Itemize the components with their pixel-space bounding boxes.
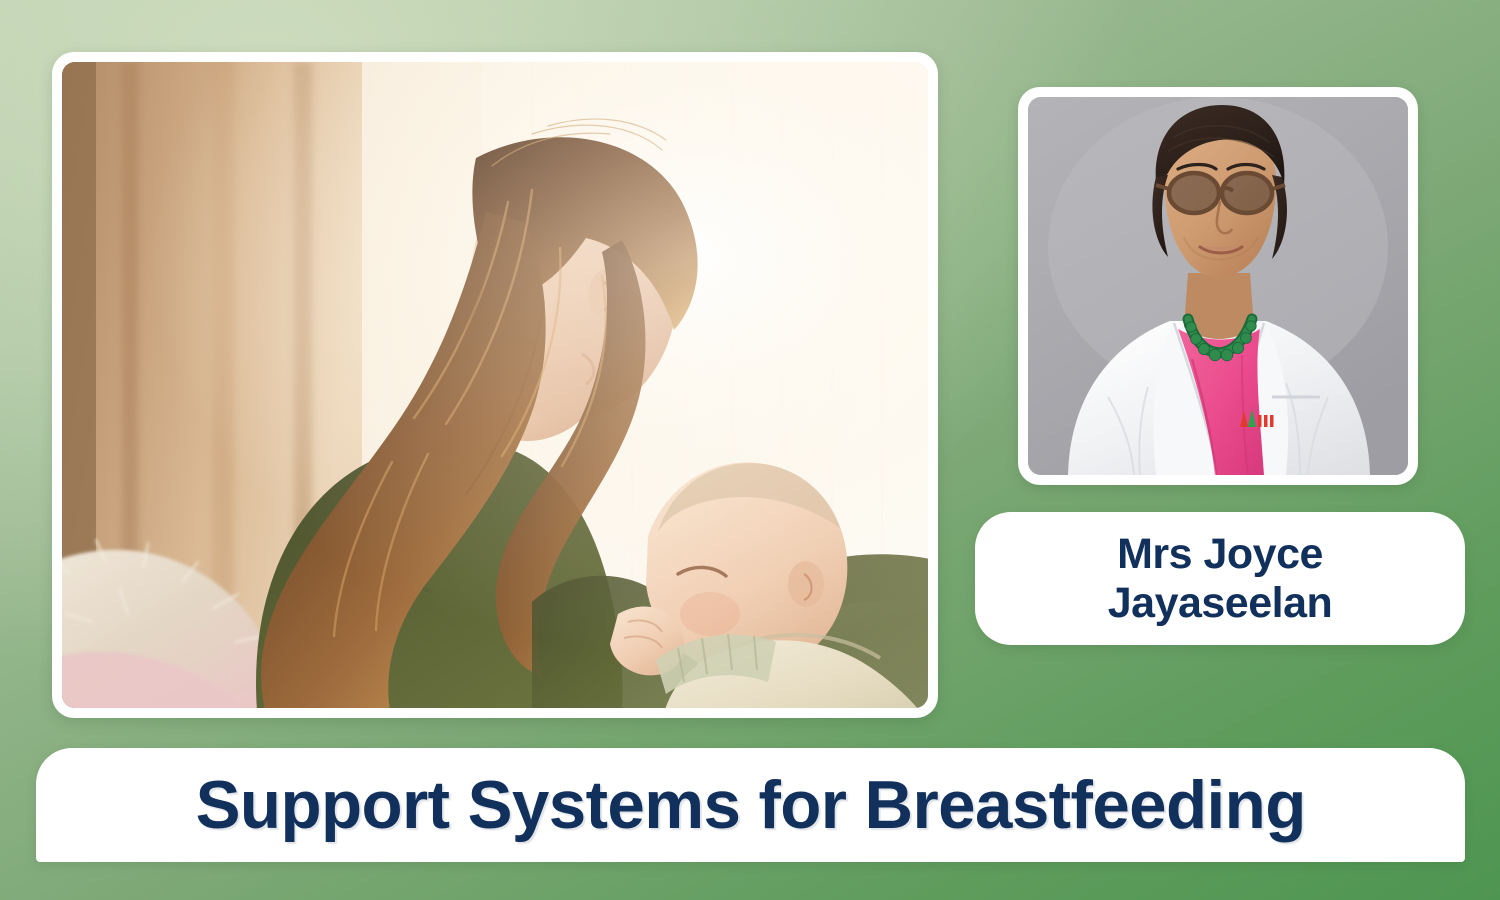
page-title: Support Systems for Breastfeeding xyxy=(195,766,1305,844)
speaker-name-card: Mrs Joyce Jayaseelan xyxy=(975,512,1465,645)
doctor-portrait-illustration xyxy=(1028,97,1408,475)
hero-photo-frame xyxy=(52,52,938,718)
breastfeeding-photo-illustration xyxy=(62,62,928,708)
poster-canvas: Mrs Joyce Jayaseelan Support Systems for… xyxy=(0,0,1500,900)
doctor-portrait xyxy=(1028,97,1408,475)
title-bar: Support Systems for Breastfeeding xyxy=(36,748,1465,862)
speaker-name-line-1: Mrs Joyce xyxy=(1117,530,1323,578)
speaker-name-line-2: Jayaseelan xyxy=(1108,579,1333,627)
hero-photo xyxy=(62,62,928,708)
doctor-portrait-frame xyxy=(1018,87,1418,485)
